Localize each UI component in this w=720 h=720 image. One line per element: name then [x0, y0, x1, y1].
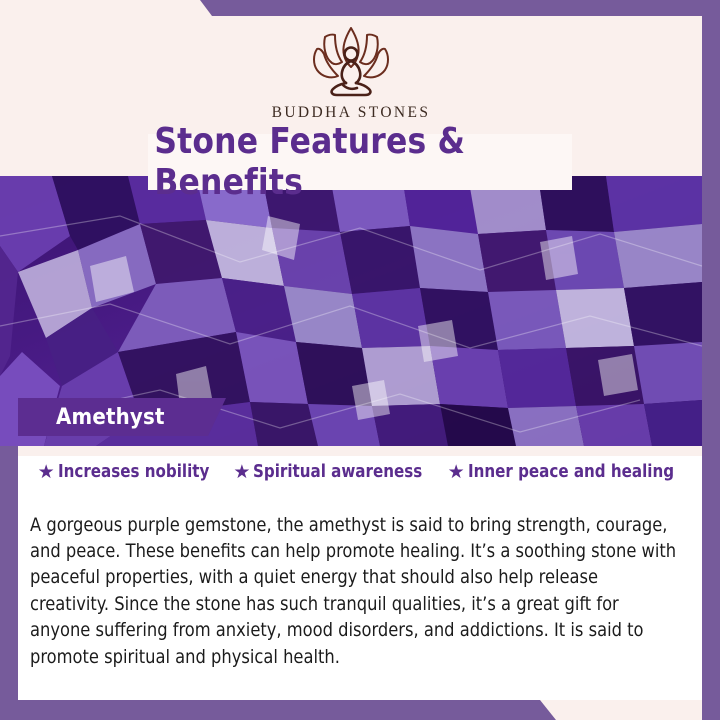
header: BUDDHA STONES Stone Features & Benefits [0, 16, 702, 176]
benefits-list: ★ Increases nobility ★ Spiritual awarene… [18, 462, 702, 482]
lotus-meditation-icon [291, 22, 411, 100]
stone-description: A gorgeous purple gemstone, the amethyst… [30, 513, 677, 671]
page-title-plate: Stone Features & Benefits [148, 134, 572, 190]
amethyst-hero-image: Amethyst [0, 176, 702, 446]
benefit-item: ★ Increases nobility [38, 462, 216, 482]
benefit-label: Spiritual awareness [253, 462, 422, 482]
frame-right-bar [702, 0, 720, 720]
benefit-label: Inner peace and healing [468, 462, 674, 482]
content-panel: ★ Increases nobility ★ Spiritual awarene… [18, 446, 702, 700]
benefit-label: Increases nobility [58, 462, 209, 482]
frame-bottom-bar [0, 700, 720, 720]
frame-top-bar [0, 0, 720, 16]
page-title: Stone Features & Benefits [154, 121, 565, 203]
stone-name-label: Amethyst [56, 405, 165, 430]
stone-features-card: BUDDHA STONES Stone Features & Benefits [0, 0, 720, 720]
star-icon: ★ [448, 463, 465, 482]
stone-name-banner: Amethyst [18, 398, 226, 436]
benefit-item: ★ Spiritual awareness [233, 462, 429, 482]
content-top-strip [18, 446, 702, 456]
brand-logo: BUDDHA STONES [0, 22, 702, 122]
star-icon: ★ [233, 463, 250, 482]
frame-left-bar [0, 446, 18, 700]
star-icon: ★ [38, 463, 55, 482]
brand-wordmark: BUDDHA STONES [272, 104, 431, 122]
benefit-item: ★ Inner peace and healing [448, 462, 683, 482]
